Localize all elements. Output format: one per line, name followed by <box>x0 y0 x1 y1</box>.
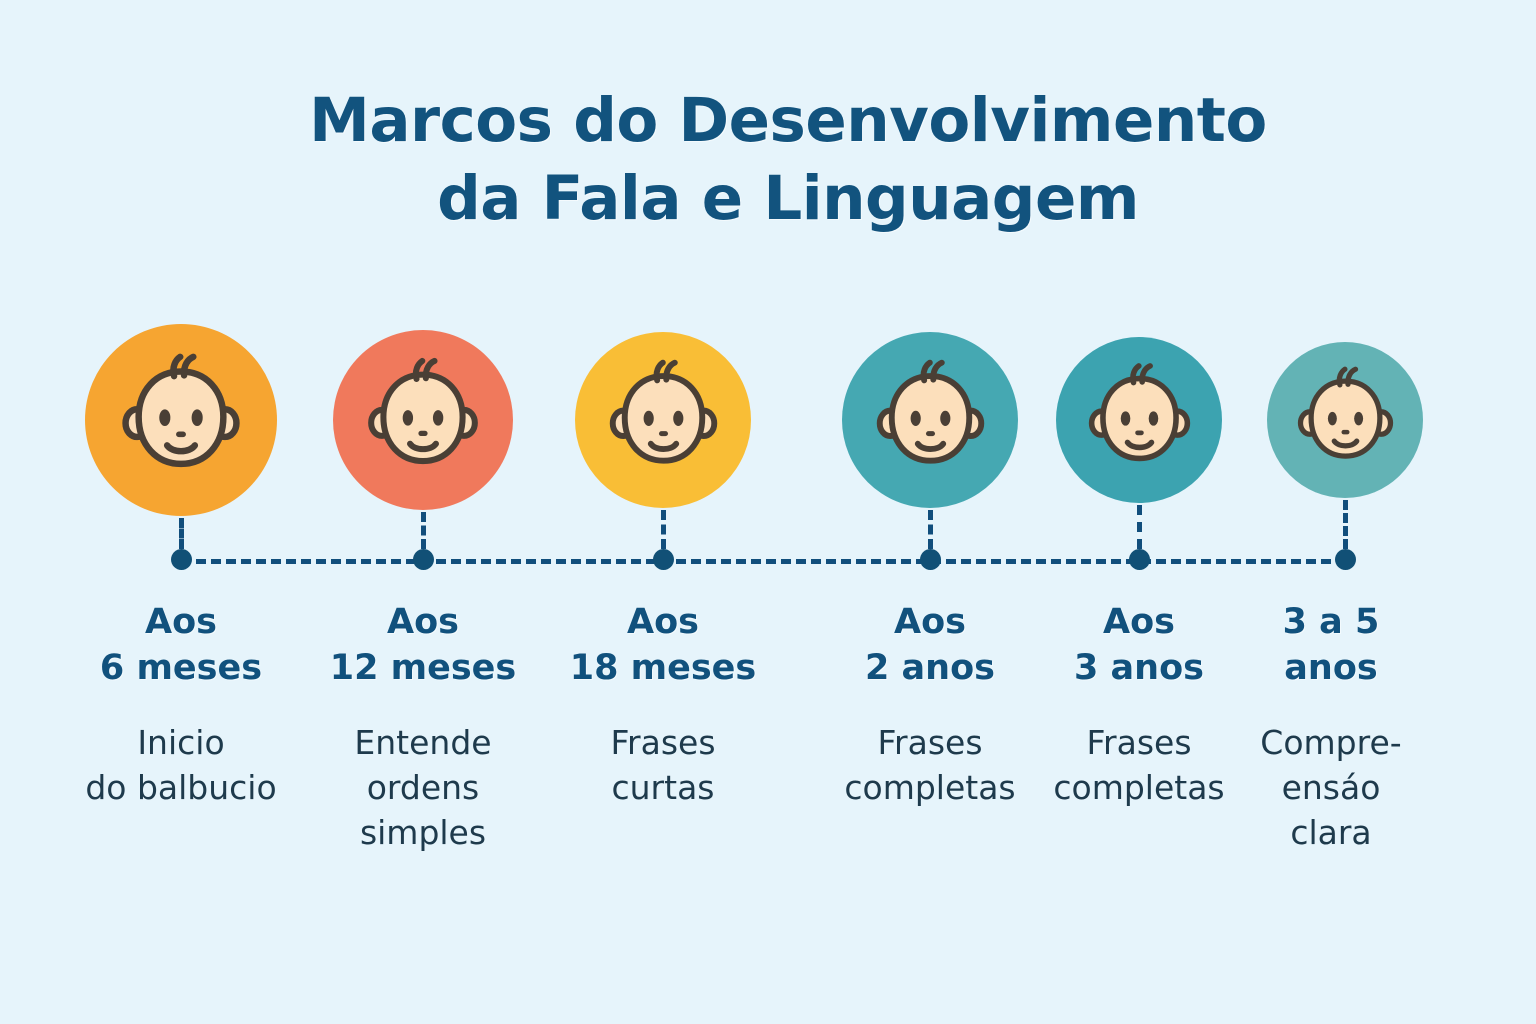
milestone-age-18-meses: Aos 18 meses <box>538 600 788 691</box>
connector-2-anos <box>928 510 933 549</box>
baby-face-icon <box>1073 354 1206 487</box>
timeline-dashed-line <box>181 559 1346 564</box>
milestone-age-3-a-5-anos: 3 a 5 anos <box>1206 600 1456 691</box>
timeline-dot-3-a-5-anos[interactable] <box>1335 549 1356 570</box>
connector-12-meses <box>421 512 426 549</box>
milestone-circle-6-meses[interactable] <box>85 324 277 516</box>
milestone-label-18-meses: Aos 18 mesesFrases curtas <box>538 600 788 811</box>
milestone-circle-12-meses[interactable] <box>333 330 513 510</box>
milestone-label-6-meses: Aos 6 mesesInicio do balbucio <box>56 600 306 811</box>
milestone-age-12-meses: Aos 12 meses <box>298 600 548 691</box>
milestone-circle-2-anos[interactable] <box>842 332 1018 508</box>
milestone-description-18-meses: Frases curtas <box>538 721 788 811</box>
milestone-description-3-a-5-anos: Compre- ensáo clara <box>1206 721 1456 856</box>
connector-6-meses <box>179 518 184 549</box>
milestone-circle-18-meses[interactable] <box>575 332 751 508</box>
milestone-circles-row <box>0 0 1536 1024</box>
milestone-description-12-meses: Entende ordens simples <box>298 721 548 856</box>
timeline-dot-2-anos[interactable] <box>920 549 941 570</box>
milestone-label-3-a-5-anos: 3 a 5 anosCompre- ensáo clara <box>1206 600 1456 856</box>
milestone-description-6-meses: Inicio do balbucio <box>56 721 306 811</box>
milestone-circle-3-anos[interactable] <box>1056 337 1222 503</box>
milestone-age-6-meses: Aos 6 meses <box>56 600 306 691</box>
timeline-dot-12-meses[interactable] <box>413 549 434 570</box>
infographic-canvas: Marcos do Desenvolvimento da Fala e Ling… <box>0 0 1536 1024</box>
baby-face-icon <box>351 348 495 492</box>
baby-face-icon <box>1283 358 1408 483</box>
timeline-dot-6-meses[interactable] <box>171 549 192 570</box>
baby-face-icon <box>593 350 734 491</box>
connector-3-a-5-anos <box>1343 500 1348 549</box>
connector-3-anos <box>1137 505 1142 549</box>
milestone-circle-3-a-5-anos[interactable] <box>1267 342 1423 498</box>
timeline-dot-3-anos[interactable] <box>1129 549 1150 570</box>
baby-face-icon <box>104 343 258 497</box>
connector-18-meses <box>661 510 666 549</box>
milestone-label-12-meses: Aos 12 mesesEntende ordens simples <box>298 600 548 856</box>
timeline-dot-18-meses[interactable] <box>653 549 674 570</box>
baby-face-icon <box>860 350 1001 491</box>
